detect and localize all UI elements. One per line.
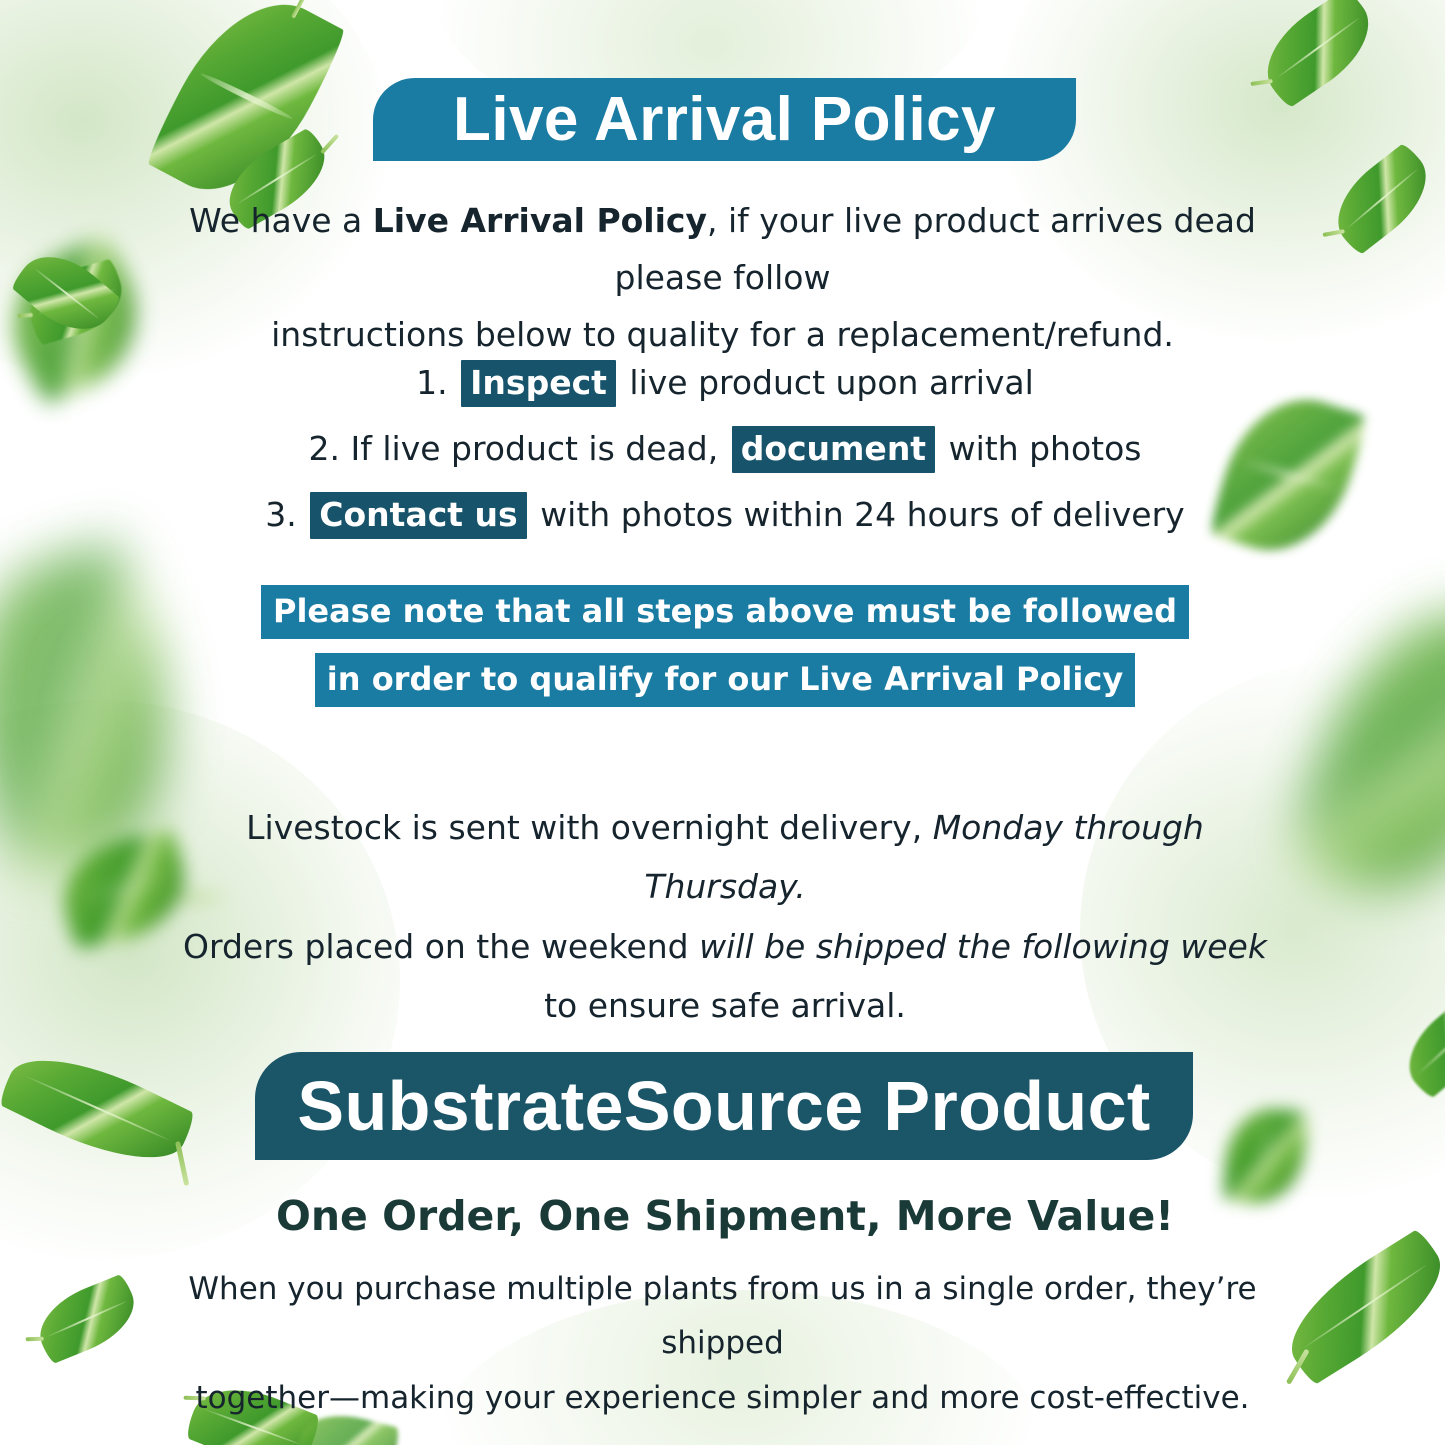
ship-line2-italic: will be shipped the following week — [699, 927, 1267, 966]
step-highlight-contact-us[interactable]: Contact us — [310, 492, 526, 539]
note-line-2: in order to qualify for our Live Arrival… — [315, 653, 1135, 707]
step-text-before: If live product is dead, — [351, 429, 719, 468]
ship-line1-plain: Livestock is sent with overnight deliver… — [246, 808, 933, 847]
list-item: 2. If live product is dead, document wit… — [170, 416, 1280, 482]
shipping-schedule-paragraph: Livestock is sent with overnight deliver… — [170, 798, 1280, 1036]
note-line-1: Please note that all steps above must be… — [261, 585, 1189, 639]
step-number: 3. — [265, 495, 297, 534]
step-number: 2. — [309, 429, 341, 468]
step-text: with photos — [949, 429, 1142, 468]
intro-line2: instructions below to quality for a repl… — [271, 315, 1174, 354]
policy-steps-list: 1. Inspect live product upon arrival 2. … — [170, 350, 1280, 548]
live-arrival-policy-banner: Live Arrival Policy — [373, 78, 1076, 161]
intro-bold-term: Live Arrival Policy — [373, 201, 707, 240]
ship-line3: to ensure safe arrival. — [544, 986, 906, 1025]
step-text: with photos within 24 hours of delivery — [540, 495, 1185, 534]
policy-intro-paragraph: We have a Live Arrival Policy, if your l… — [150, 193, 1295, 363]
intro-rest: , if your live product arrives dead plea… — [615, 201, 1256, 297]
ship-line2-plain: Orders placed on the weekend — [183, 927, 699, 966]
product-tagline: One Order, One Shipment, More Value! — [170, 1192, 1280, 1240]
intro-lead: We have a — [189, 201, 373, 240]
outro-line2: together—making your experience simpler … — [196, 1380, 1250, 1416]
list-item: 3. Contact us with photos within 24 hour… — [170, 482, 1280, 548]
outro-line1: When you purchase multiple plants from u… — [188, 1271, 1256, 1361]
step-number: 1. — [416, 363, 448, 402]
product-description: When you purchase multiple plants from u… — [140, 1262, 1305, 1425]
step-highlight-document: document — [732, 426, 935, 473]
page-content: Live Arrival Policy We have a Live Arriv… — [0, 0, 1445, 1445]
substratesource-product-banner: SubstrateSource Product — [255, 1052, 1193, 1160]
step-text: live product upon arrival — [629, 363, 1033, 402]
list-item: 1. Inspect live product upon arrival — [170, 350, 1280, 416]
policy-note: Please note that all steps above must be… — [170, 585, 1280, 721]
step-highlight-inspect: Inspect — [461, 360, 616, 407]
